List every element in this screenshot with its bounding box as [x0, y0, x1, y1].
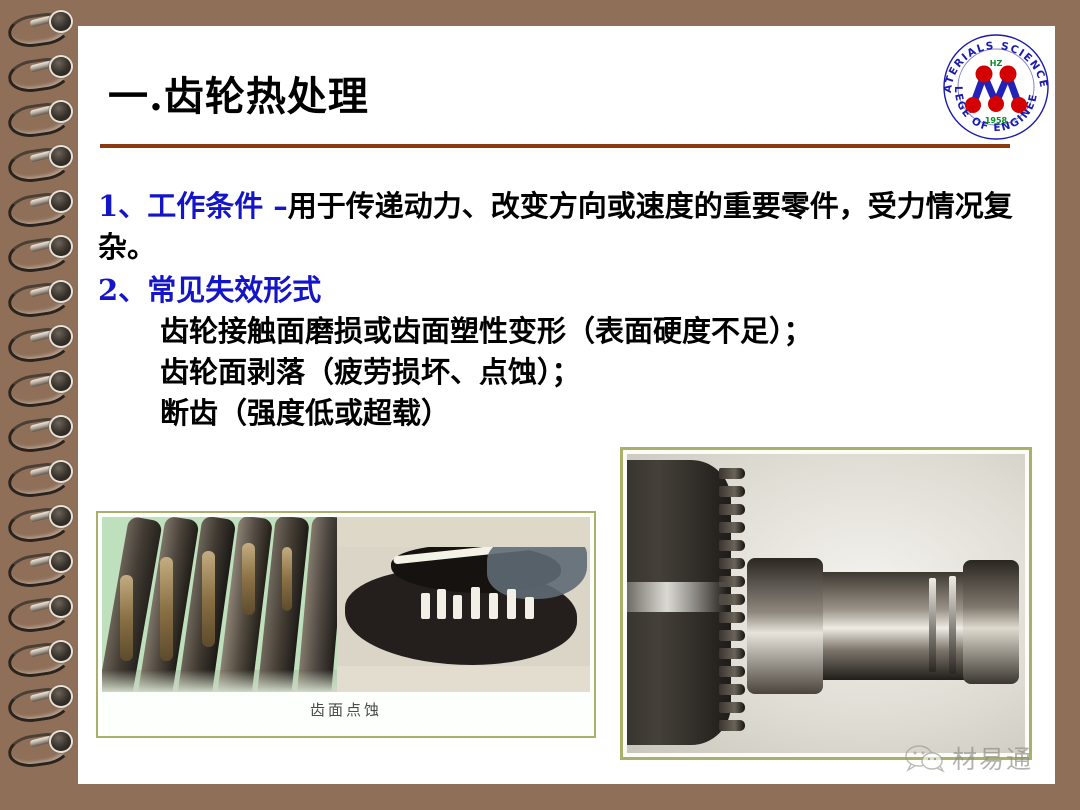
failure-mode-line-1: 齿轮接触面磨损或齿面塑性变形（表面硬度不足）；: [98, 311, 1028, 352]
item-2-heading: 常见失效形式: [147, 273, 321, 307]
binding-coil: [6, 278, 76, 316]
gear-and-splined-shaft-photo: [620, 447, 1032, 760]
wechat-bubble-icon: [904, 743, 946, 773]
slide-page: 一.齿轮热处理 MATERIALS SCIENCE & COLLEGE OF E…: [72, 26, 1055, 784]
binding-coil: [6, 233, 76, 271]
item-1-number: 1、: [98, 189, 147, 223]
title-divider: [100, 144, 1010, 148]
item-2-number: 2、: [98, 273, 147, 307]
page-title: 一.齿轮热处理: [108, 64, 369, 122]
content-item-1: 1、工作条件 –用于传递动力、改变方向或速度的重要零件，受力情况复杂。: [98, 186, 1028, 268]
binding-coil: [6, 98, 76, 136]
failure-mode-line-2: 齿轮面剥落（疲劳损坏、点蚀）；: [98, 352, 1028, 393]
logo-svg: MATERIALS SCIENCE & COLLEGE OF ENGINEERI…: [937, 28, 1055, 146]
watermark-text: 材易通: [952, 740, 1033, 776]
content-item-2: 2、常见失效形式: [98, 270, 1028, 311]
binding-coil: [6, 8, 76, 46]
shaft-gear-hub: [747, 558, 823, 694]
binding-coil: [6, 593, 76, 631]
content-body: 1、工作条件 –用于传递动力、改变方向或速度的重要零件，受力情况复杂。 2、常见…: [98, 186, 1028, 434]
pitting-photo-row: [102, 517, 590, 692]
spiral-binding: [0, 0, 78, 810]
binding-coil: [6, 728, 76, 766]
college-logo: MATERIALS SCIENCE & COLLEGE OF ENGINEERI…: [937, 28, 1055, 146]
item-1-heading: 工作条件 –: [147, 189, 288, 223]
binding-coil: [6, 638, 76, 676]
logo-green-bottom-text: 1958: [985, 116, 1008, 125]
binding-coil: [6, 53, 76, 91]
binding-coil: [6, 503, 76, 541]
binding-coil: [6, 413, 76, 451]
binding-coil: [6, 188, 76, 226]
worn-gear-teeth-photo: [102, 517, 337, 692]
gear-photo-inner: [627, 454, 1025, 753]
binding-coil: [6, 368, 76, 406]
pitting-figure-caption: 齿面点蚀: [98, 699, 594, 720]
gear-highlight: [627, 582, 727, 612]
binding-coil: [6, 143, 76, 181]
binding-coil: [6, 323, 76, 361]
failure-mode-line-3: 断齿（强度低或超载）: [98, 393, 1028, 434]
binding-coil: [6, 548, 76, 586]
logo-green-top-text: HZ: [990, 59, 1003, 68]
wechat-watermark: 材易通: [904, 740, 1033, 776]
slide-canvas: 一.齿轮热处理 MATERIALS SCIENCE & COLLEGE OF E…: [0, 0, 1080, 810]
tooth-surface-pitting-figure: 齿面点蚀: [96, 511, 596, 738]
spalled-gear-face-photo: [337, 517, 590, 692]
binding-coil: [6, 683, 76, 721]
shaft-end-boss: [963, 560, 1019, 684]
binding-coil: [6, 458, 76, 496]
